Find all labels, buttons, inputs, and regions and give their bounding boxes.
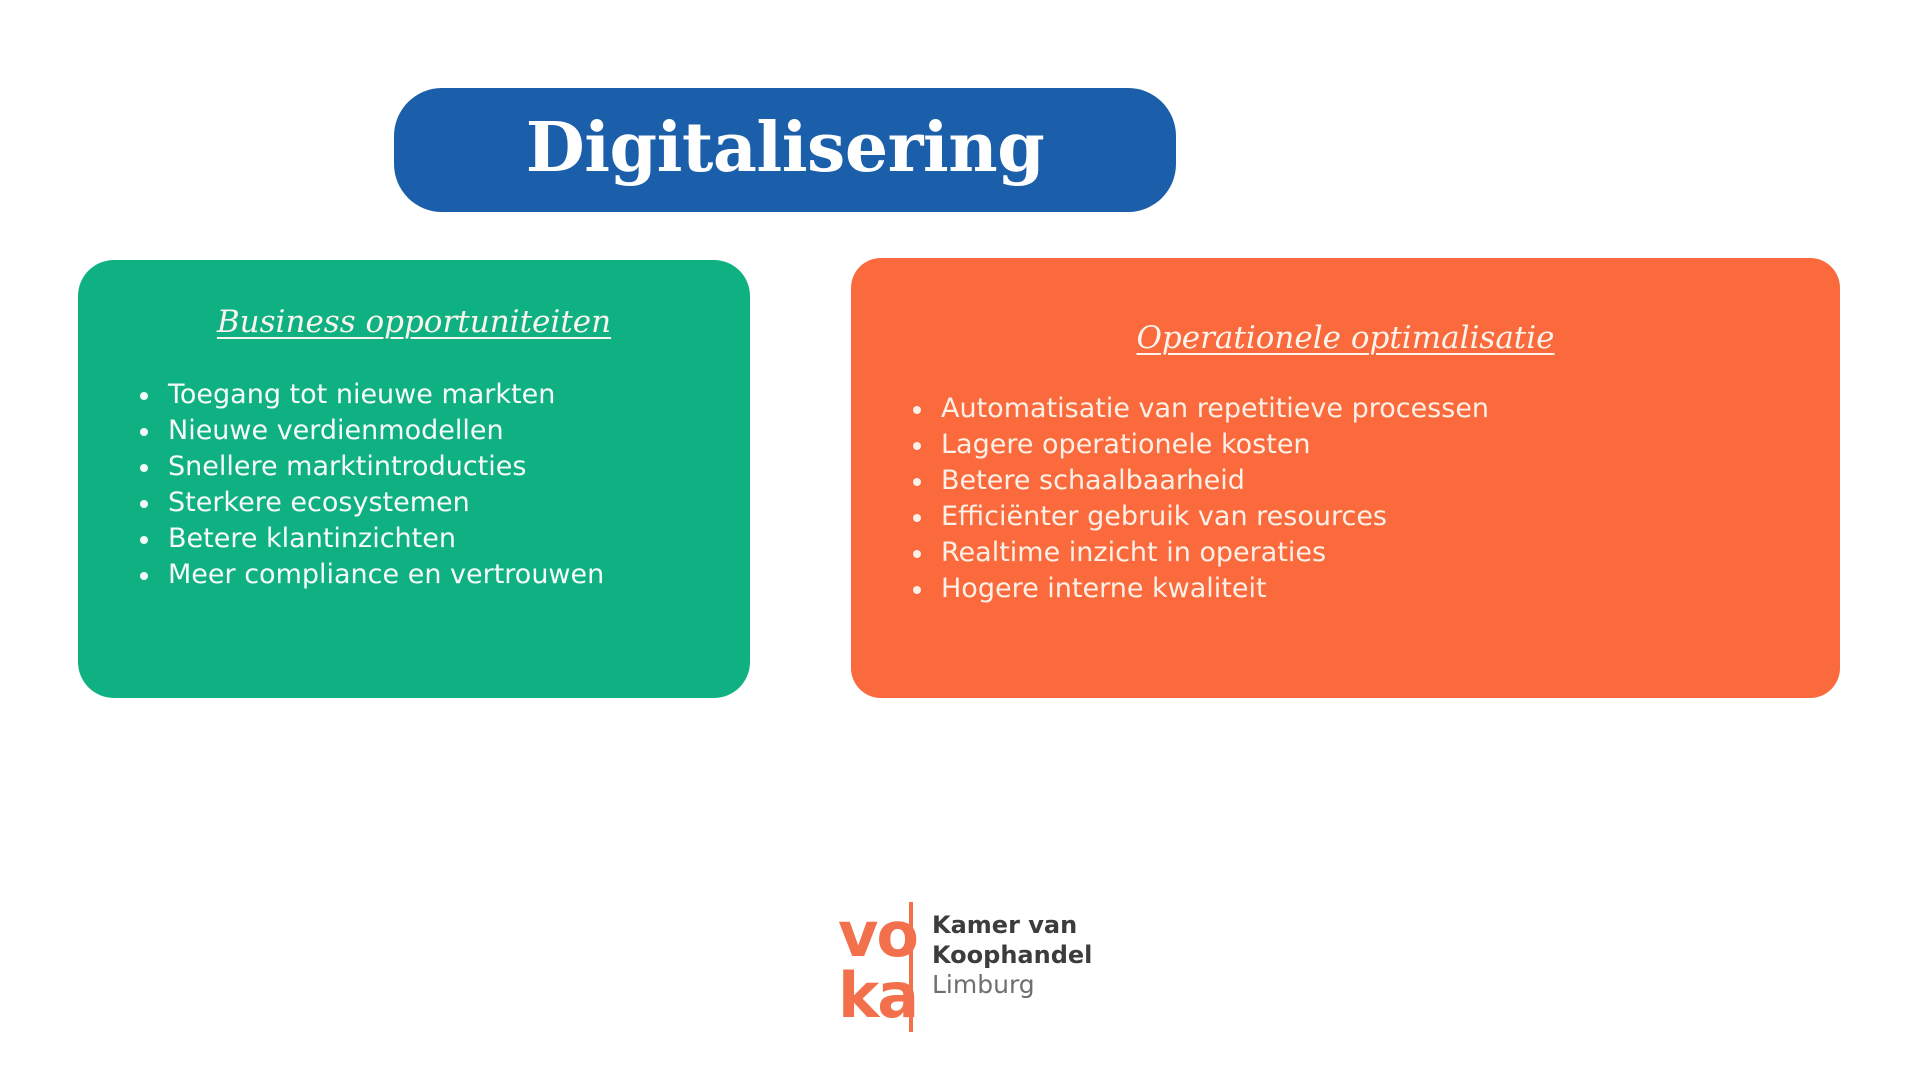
list-item: Meer compliance en vertrouwen [134,557,716,593]
list-item: Hogere interne kwaliteit [907,571,1806,607]
list-item-label: Nieuwe verdienmodellen [168,415,504,446]
bullet-dot-icon [913,442,921,450]
bullet-dot-icon [913,514,921,522]
list-item: Toegang tot nieuwe markten [134,377,716,413]
voka-logo-mark-line2: ka [838,965,917,1027]
bullet-dot-icon [913,586,921,594]
list-item: Lagere operationele kosten [907,427,1806,463]
list-item-label: Automatisatie van repetitieve processen [941,393,1489,424]
logo-region: Limburg [932,970,1092,1000]
bullet-list-business-opportuniteiten: Toegang tot nieuwe markten Nieuwe verdie… [112,377,716,593]
list-item: Betere klantinzichten [134,521,716,557]
list-item-label: Hogere interne kwaliteit [941,573,1267,604]
bullet-dot-icon [913,406,921,414]
list-item-label: Realtime inzicht in operaties [941,537,1326,568]
card-operationele-optimalisatie: Operationele optimalisatie Automatisatie… [851,258,1840,698]
bullet-dot-icon [140,536,148,544]
page-title: Digitalisering [526,114,1045,182]
list-item-label: Lagere operationele kosten [941,429,1311,460]
logo-name-line1: Kamer van [932,910,1092,940]
card-business-opportuniteiten: Business opportuniteiten Toegang tot nie… [78,260,750,698]
voka-logo-mark-icon: vo ka [838,904,916,1032]
list-item: Betere schaalbaarheid [907,463,1806,499]
logo-name-line2: Koophandel [932,940,1092,970]
card-title-operationele-optimalisatie: Operationele optimalisatie [885,320,1806,357]
list-item-label: Betere schaalbaarheid [941,465,1245,496]
list-item: Sterkere ecosystemen [134,485,716,521]
list-item-label: Efficiënter gebruik van resources [941,501,1387,532]
list-item: Efficiënter gebruik van resources [907,499,1806,535]
bullet-dot-icon [140,392,148,400]
voka-logo-mark-line1: vo [838,904,917,966]
card-title-business-opportuniteiten: Business opportuniteiten [112,304,716,341]
list-item: Snellere marktintroducties [134,449,716,485]
list-item-label: Snellere marktintroducties [168,451,526,482]
voka-logo: vo ka Kamer van Koophandel Limburg [838,904,1068,1036]
list-item: Automatisatie van repetitieve processen [907,391,1806,427]
voka-logo-vertical-bar [909,902,913,1032]
bullet-dot-icon [913,478,921,486]
voka-logo-wordmark: Kamer van Koophandel Limburg [932,904,1092,1000]
list-item: Nieuwe verdienmodellen [134,413,716,449]
list-item-label: Meer compliance en vertrouwen [168,559,604,590]
bullet-dot-icon [140,464,148,472]
slide-title-banner: Digitalisering [394,88,1176,212]
bullet-dot-icon [140,572,148,580]
bullet-list-operationele-optimalisatie: Automatisatie van repetitieve processen … [885,391,1806,607]
bullet-dot-icon [140,428,148,436]
list-item-label: Toegang tot nieuwe markten [168,379,555,410]
list-item-label: Sterkere ecosystemen [168,487,470,518]
list-item-label: Betere klantinzichten [168,523,456,554]
bullet-dot-icon [140,500,148,508]
bullet-dot-icon [913,550,921,558]
list-item: Realtime inzicht in operaties [907,535,1806,571]
slide-canvas: Digitalisering Business opportuniteiten … [0,0,1920,1080]
